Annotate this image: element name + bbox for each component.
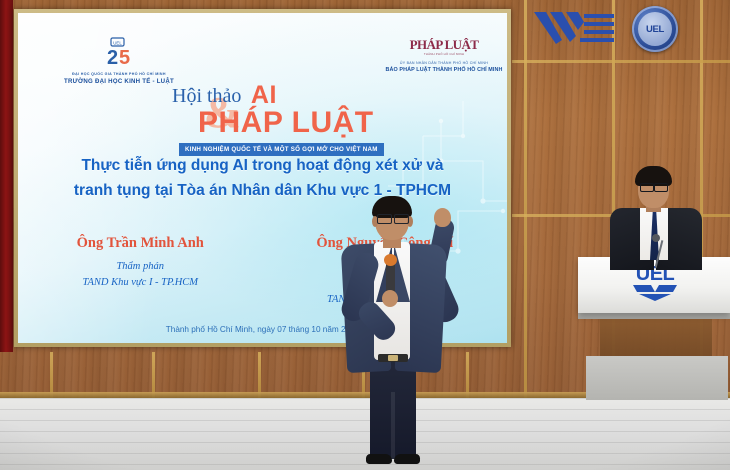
phap-luat-wordmark-sub: THÀNH PHỐ HỒ CHÍ MINH	[370, 52, 507, 56]
slide-left-logo-line1: ĐẠI HỌC QUỐC GIA THÀNH PHỐ HỒ CHÍ MINH	[58, 72, 180, 77]
speaker-glasses-left	[640, 183, 654, 192]
wall-logo-group: UEL	[528, 4, 718, 52]
presenter-leg-separation	[391, 392, 395, 460]
red-banner-strip	[0, 0, 13, 352]
podium-base	[586, 356, 728, 400]
uel-wall-seal: UEL	[632, 6, 678, 52]
slide-title-line1: Thực tiễn ứng dụng AI trong hoạt động xé…	[18, 153, 507, 178]
slide-right-logo-line1: ỦY BAN NHÂN DÂN THÀNH PHỐ HỒ CHÍ MINH	[370, 61, 507, 66]
speaker-role-line2: TAND Khu vực I - TP.HCM	[18, 275, 263, 291]
slide-left-logo: UEL 2 5 ĐẠI HỌC QUỐC GIA THÀNH PHỐ HỒ CH…	[58, 37, 180, 85]
presenter-right-shoe	[394, 454, 420, 464]
speaker-item: Ông Trần Minh Anh Thẩm phán TAND Khu vực…	[18, 235, 263, 308]
svg-text:UEL: UEL	[113, 40, 122, 45]
presenter-glasses-left	[377, 214, 392, 224]
vnu-chevron-icon	[532, 10, 616, 46]
speaker-name: Ông Trần Minh Anh	[18, 235, 263, 252]
slide-left-logo-line2: TRƯỜNG ĐẠI HỌC KINH TẾ - LUẬT	[58, 78, 180, 85]
podium-column	[600, 319, 712, 359]
podium-speaker-person	[596, 166, 714, 266]
presenter-belt-buckle	[388, 355, 398, 361]
slide-right-logo-line2: BÁO PHÁP LUẬT THÀNH PHỐ HỒ CHÍ MINH	[370, 67, 507, 73]
podium-uel-logo: UEL	[620, 264, 690, 306]
svg-text:2: 2	[107, 47, 118, 65]
event-header-bigword: PHÁP LUẬT	[198, 106, 374, 140]
podium-microphone-head	[652, 234, 660, 242]
presenter-person	[336, 196, 456, 470]
svg-text:5: 5	[119, 47, 130, 65]
speaker-role: Thẩm phán TAND Khu vực I - TP.HCM	[18, 259, 263, 292]
presenter-right-hand	[434, 208, 451, 227]
phap-luat-wordmark: PHÁP LUẬT	[370, 38, 507, 51]
uel-25-anniversary-icon: UEL 2 5	[99, 37, 139, 65]
uel-seal-label: UEL	[646, 24, 664, 35]
conference-photo: UEL	[0, 0, 730, 470]
event-header-prefix: Hội thảo	[172, 85, 241, 108]
speaker-role-line1: Thẩm phán	[18, 259, 263, 275]
slide-right-logo: PHÁP LUẬT THÀNH PHỐ HỒ CHÍ MINH ỦY BAN N…	[370, 38, 507, 73]
uel-book-wing-icon	[633, 285, 677, 301]
speaker-glasses-right	[654, 183, 668, 192]
gold-trim-horizontal	[512, 60, 730, 63]
presenter-glasses-right	[394, 214, 409, 224]
presenter-left-hand	[382, 290, 398, 307]
event-header: & Hội thảo AI PHÁP LUẬT KINH NGHIỆM QUỐC…	[168, 81, 398, 110]
presenter-left-shoe	[366, 454, 392, 464]
microphone-head	[384, 254, 397, 266]
